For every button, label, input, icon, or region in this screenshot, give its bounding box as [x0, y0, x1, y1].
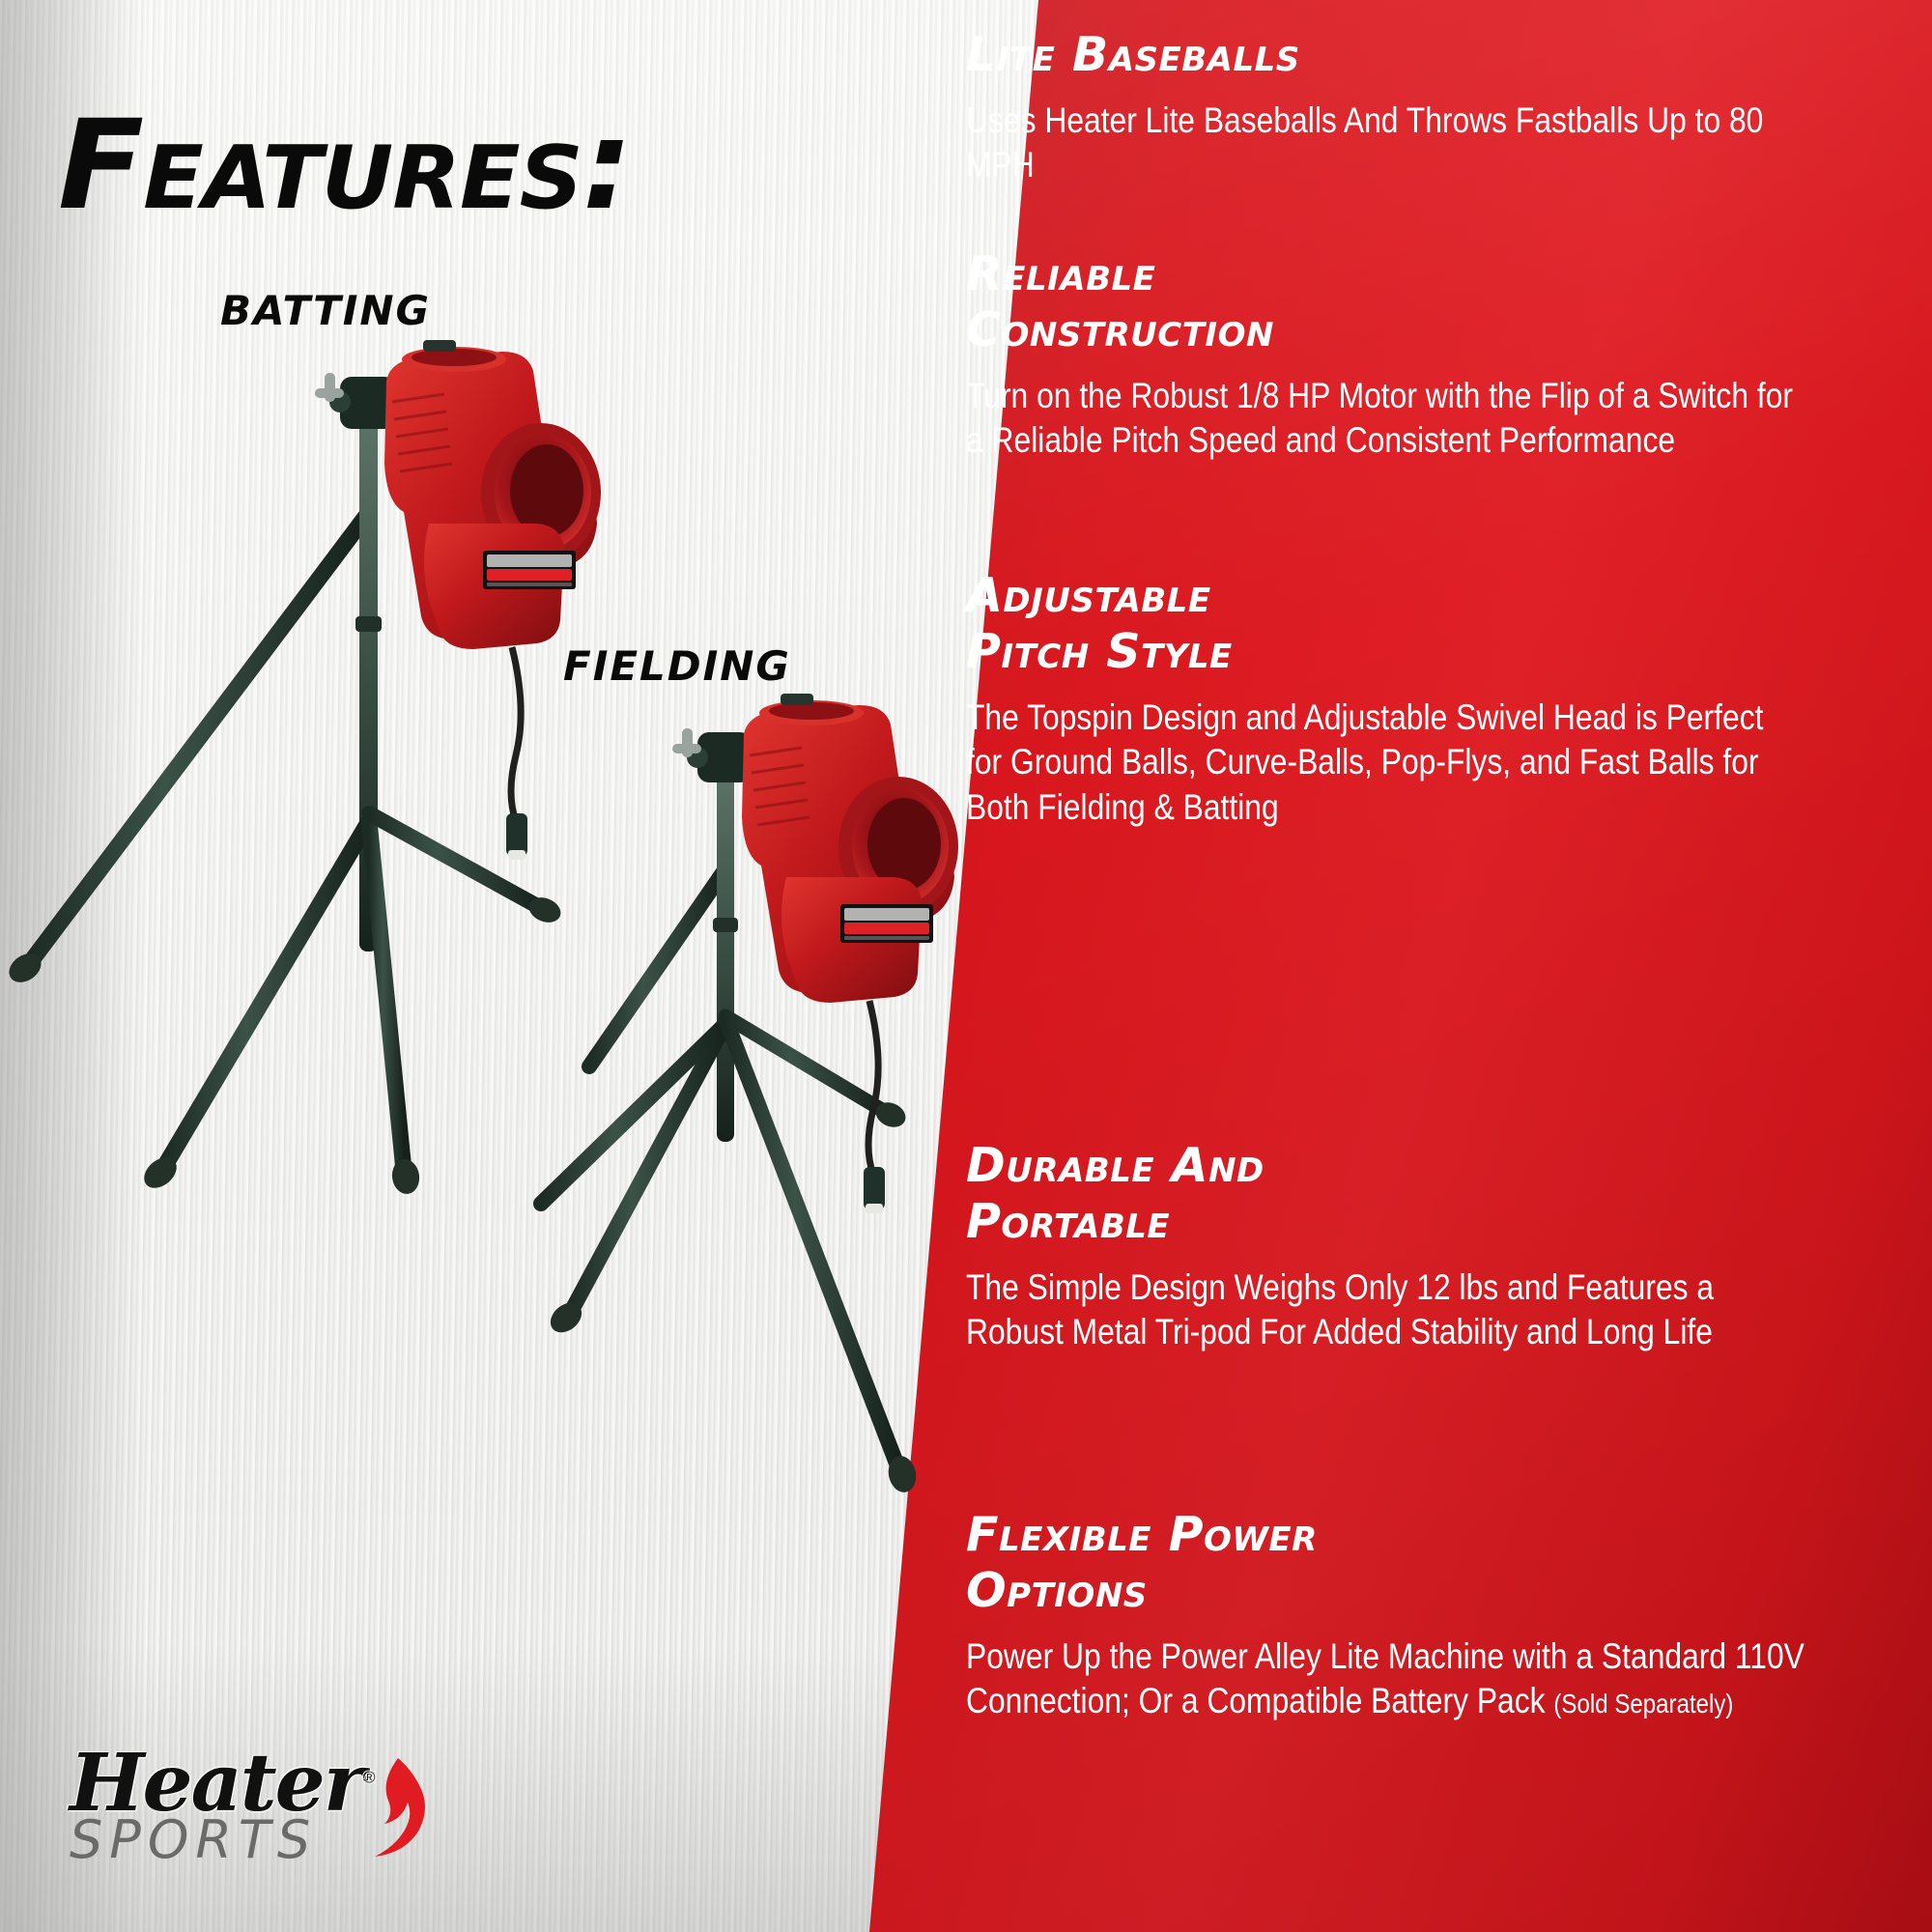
- feature-heading: Flexible Power Options: [966, 1507, 1806, 1619]
- feature-heading: Reliable Construction: [966, 246, 1806, 358]
- feature-body: The Simple Design Weighs Only 12 lbs and…: [966, 1265, 1804, 1355]
- feature-adjustable-pitch-style: Adjustable Pitch Style The Topspin Desig…: [966, 568, 1806, 830]
- brand-logo: Heater® SPORTS: [70, 1747, 417, 1872]
- feature-lite-baseballs: Lite Baseballs Uses Heater Lite Baseball…: [966, 27, 1806, 188]
- label-fielding: FIELDING: [563, 642, 791, 690]
- flame-icon: [355, 1756, 425, 1861]
- feature-heading: Durable And Portable: [966, 1138, 1806, 1250]
- feature-body: The Topspin Design and Adjustable Swivel…: [966, 696, 1804, 831]
- feature-body-footnote: (Sold Separately): [1553, 1689, 1733, 1719]
- feature-body-wrap: Power Up the Power Alley Lite Machine wi…: [966, 1634, 1804, 1724]
- feature-heading: Lite Baseballs: [966, 27, 1806, 83]
- features-list: Lite Baseballs Uses Heater Lite Baseball…: [966, 0, 1816, 1932]
- feature-flexible-power-options: Flexible Power Options Power Up the Powe…: [966, 1507, 1806, 1724]
- infographic-canvas: Features:: [0, 0, 1932, 1932]
- feature-durable-and-portable: Durable And Portable The Simple Design W…: [966, 1138, 1806, 1355]
- feature-body: Uses Heater Lite Baseballs And Throws Fa…: [966, 99, 1804, 188]
- label-batting: BATTING: [220, 287, 431, 334]
- machine-illustration-batting: [0, 319, 638, 1236]
- feature-heading: Adjustable Pitch Style: [966, 568, 1806, 680]
- batting-machine-svg: [0, 319, 638, 1236]
- feature-reliable-construction: Reliable Construction Turn on the Robust…: [966, 246, 1806, 464]
- feature-body: Turn on the Robust 1/8 HP Motor with the…: [966, 374, 1804, 464]
- page-title: Features:: [58, 104, 632, 228]
